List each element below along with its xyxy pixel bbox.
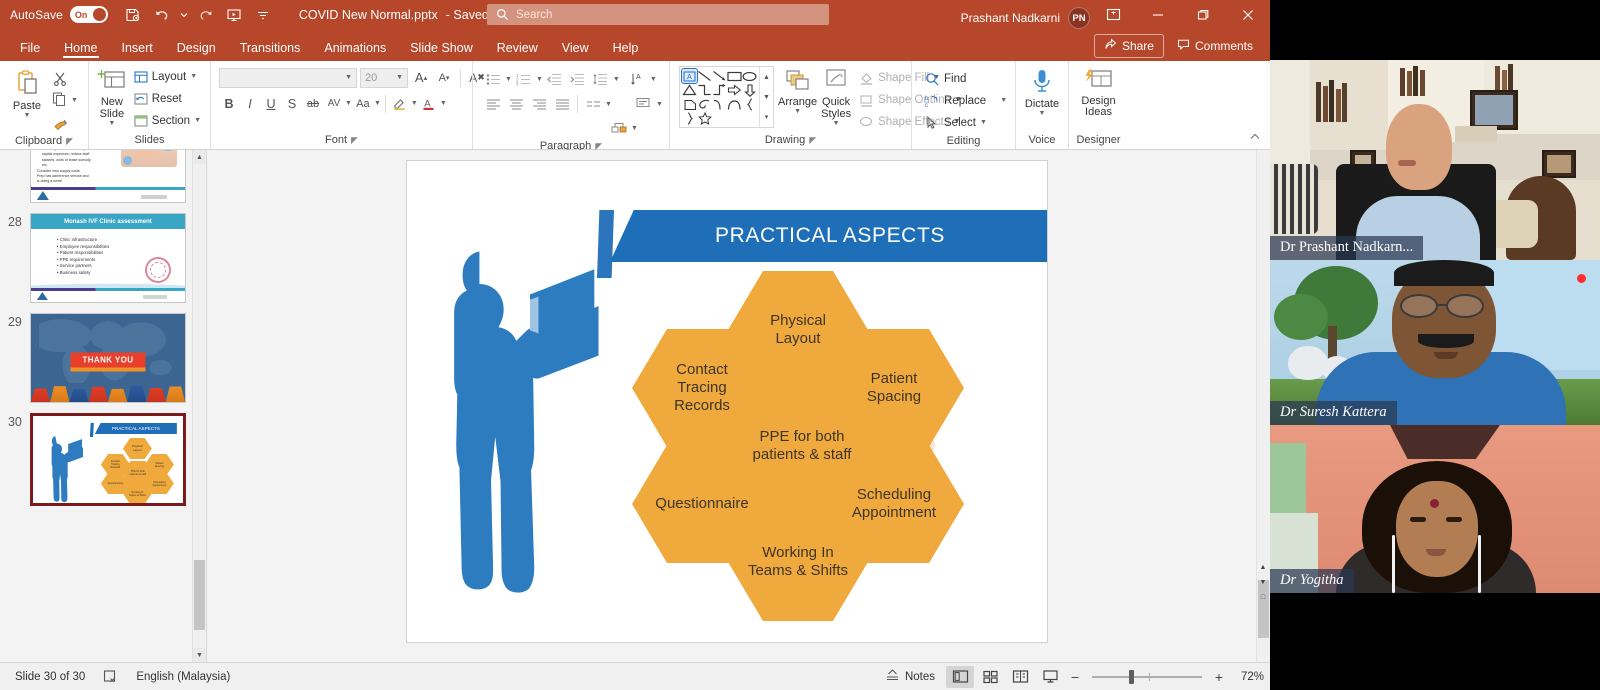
dictate-chevron-down-icon[interactable]: ▼ (1039, 110, 1046, 117)
autosave-toggle[interactable]: On (70, 6, 108, 23)
bullets-chevron-down-icon[interactable]: ▼ (505, 76, 512, 83)
slide-counter[interactable]: Slide 30 of 30 (6, 666, 94, 688)
undo-dropdown-icon[interactable] (178, 3, 190, 27)
numbering-icon[interactable]: 123 (513, 69, 535, 90)
slide-nav-buttons: ▲ ▼ □ (1257, 561, 1269, 604)
new-slide-button[interactable]: New Slide ▼ (94, 66, 130, 127)
thumb-title: Monash IVF Clinic assessment (64, 219, 152, 225)
change-case-button[interactable]: Aa (353, 94, 373, 114)
zoom-slider-handle[interactable] (1129, 670, 1134, 684)
select-button[interactable]: Select ▼ (921, 112, 1011, 133)
slide-scrollbar[interactable]: ▲ ▼ □ (1256, 150, 1270, 662)
tab-slide-show[interactable]: Slide Show (398, 34, 485, 61)
slide-canvas[interactable]: PRACTICAL ASPECTS (406, 160, 1048, 643)
shape-rectangle-icon[interactable] (727, 69, 742, 83)
application-window: AutoSave On (0, 0, 1600, 690)
svg-text:A: A (687, 74, 692, 81)
title-bar: AutoSave On (0, 0, 1270, 29)
text-direction-chevron-down-icon[interactable]: ▼ (650, 76, 657, 83)
change-case-chevron-down-icon[interactable]: ▼ (374, 100, 381, 107)
svg-text:A: A (636, 74, 641, 81)
shape-left-brace-icon[interactable] (742, 98, 757, 112)
tab-review[interactable]: Review (485, 34, 550, 61)
zoom-out-label: − (1071, 669, 1079, 685)
font-name-chevron-down-icon: ▼ (345, 74, 352, 81)
shape-right-arrow-icon[interactable] (727, 83, 742, 97)
paste-chevron-down-icon[interactable]: ▼ (24, 112, 31, 119)
autosave-state: On (75, 10, 88, 20)
hexagon-diagram: PhysicalLayout ContactTracingRecords Pat… (612, 271, 1032, 631)
new-slide-label: New Slide (94, 96, 130, 120)
autosave-toggle-knob (93, 8, 106, 21)
replace-button[interactable]: bc Replace ▼ (921, 90, 1011, 111)
zoom-in-button[interactable]: + (1210, 667, 1228, 687)
grow-font-button[interactable]: A▴ (411, 68, 431, 88)
notes-icon (885, 668, 900, 685)
shape-arrow-icon[interactable] (712, 69, 727, 83)
ribbon-group-designer: Design Ideas Designer (1068, 61, 1128, 149)
svg-text:3: 3 (516, 81, 519, 85)
list-item[interactable]: 28 Monash IVF Clinic assessment • Clinic… (0, 208, 192, 308)
ribbon-right-actions: Share Comments (1094, 34, 1262, 58)
character-spacing-label: AV (328, 98, 341, 109)
thumbnail-number: 30 (0, 413, 30, 429)
search-input[interactable] (487, 4, 829, 25)
thumbnail-scrollbar[interactable]: ▲ ▼ (192, 150, 206, 662)
search-container (487, 4, 829, 25)
scrollbar-thumb[interactable] (194, 560, 205, 630)
ribbon-group-drawing: A (669, 61, 911, 149)
underline-button[interactable]: U (261, 94, 281, 114)
zoom-midpoint (1149, 673, 1150, 681)
paste-label: Paste (13, 100, 41, 112)
tab-animations[interactable]: Animations (312, 34, 398, 61)
columns-chevron-down-icon[interactable]: ▼ (605, 101, 612, 108)
autosave-label: AutoSave (10, 8, 63, 22)
hex-label: Working InTeams & Shifts (748, 544, 848, 579)
hex-label: PPE for bothpatients & staff (753, 428, 852, 463)
thumbnail-slide-29[interactable]: THANK YOU (30, 313, 186, 403)
shape-oval-icon[interactable] (742, 69, 757, 83)
tab-file-label: File (20, 41, 40, 55)
justify-icon[interactable] (551, 94, 573, 115)
copy-icon (51, 91, 67, 110)
quick-styles-chevron-down-icon[interactable]: ▼ (833, 120, 840, 127)
thumbnail-number: 29 (0, 313, 30, 329)
baby-photo (121, 150, 177, 167)
shape-right-brace-icon[interactable] (682, 112, 697, 125)
arrange-label: Arrange (778, 96, 817, 108)
zoom-out-button[interactable]: − (1066, 667, 1084, 687)
tab-help[interactable]: Help (601, 34, 651, 61)
ribbon-group-slides: New Slide ▼ Layout ▼ Reset (88, 61, 210, 149)
arrange-button[interactable]: Arrange ▼ (778, 66, 817, 115)
convert-to-smartart-icon[interactable] (608, 118, 630, 139)
find-label: Find (944, 73, 966, 85)
section-label: Section (152, 115, 190, 127)
svg-text:c: c (925, 103, 928, 108)
zoom-track (1092, 676, 1202, 678)
dictate-label: Dictate (1025, 98, 1059, 110)
ribbon-group-voice: Dictate ▼ Voice (1015, 61, 1068, 149)
font-name-combo[interactable]: ▼ (219, 68, 357, 88)
design-ideas-label: Design Ideas (1074, 96, 1123, 118)
save-icon[interactable] (120, 3, 147, 27)
person-with-megaphone-icon[interactable] (420, 245, 600, 635)
shape-curve-icon[interactable] (712, 98, 727, 112)
tab-insert-label: Insert (122, 41, 153, 55)
status-bar: Slide 30 of 30 English (Malaysia) Notes (0, 662, 1270, 690)
layout-chevron-down-icon: ▼ (190, 73, 197, 80)
tab-view[interactable]: View (550, 34, 601, 61)
language-label: English (Malaysia) (136, 671, 230, 683)
slide-footer (31, 187, 185, 202)
ribbon-tabs: File Home Insert Design Transitions Anim… (0, 29, 1270, 61)
slide-counter-label: Slide 30 of 30 (15, 671, 85, 683)
shape-down-arrow-icon[interactable] (742, 83, 757, 97)
gallery-down-icon[interactable]: ▼ (760, 87, 773, 107)
hex-label: PatientSpacing (867, 370, 921, 405)
thumbnail-slide-28[interactable]: Monash IVF Clinic assessment • Clinic in… (30, 213, 186, 303)
shape-arc-icon[interactable] (727, 98, 742, 112)
hex-label: SchedulingAppointment (852, 486, 936, 521)
thumb-bullet: • Clinic infrastructure (57, 237, 185, 244)
tab-insert[interactable]: Insert (110, 34, 165, 61)
layout-button[interactable]: Layout ▼ (130, 66, 205, 87)
comments-label: Comments (1195, 39, 1253, 53)
shape-elbow-connector-icon[interactable] (697, 83, 712, 97)
avatar: PN (1068, 7, 1090, 29)
undo-icon[interactable] (149, 3, 176, 27)
zoom-level: 72% (1230, 671, 1264, 683)
ribbon: Paste ▼ ▼ (0, 61, 1270, 150)
svg-text:b: b (925, 96, 929, 102)
tab-file[interactable]: File (8, 34, 52, 61)
line-spacing-icon[interactable] (590, 69, 612, 90)
user-name: Prashant Nadkarni (961, 11, 1060, 25)
cut-icon[interactable] (49, 68, 71, 89)
numbering-chevron-down-icon[interactable]: ▼ (536, 76, 543, 83)
shape-scribble-icon[interactable] (697, 98, 712, 112)
start-presentation-icon[interactable] (221, 3, 248, 27)
restore-button[interactable] (1180, 0, 1225, 29)
share-icon (1104, 38, 1117, 54)
slide-title-banner[interactable]: PRACTICAL ASPECTS (610, 210, 1047, 262)
normal-view-button[interactable] (946, 666, 974, 688)
select-label: Select (944, 117, 976, 129)
status-bar-right: Notes − (876, 666, 1264, 688)
italic-button[interactable]: I (240, 94, 260, 114)
ribbon-group-editing-label: Editing (947, 133, 981, 150)
shape-textbox-icon[interactable]: A (682, 69, 697, 83)
text-shadow-button[interactable]: S (282, 94, 302, 114)
ribbon-display-options-icon[interactable] (1092, 0, 1135, 29)
list-item[interactable]: 30 PRACTICAL ASPECTS (0, 408, 192, 511)
video-conference-panel: Dr Prashant Nadkarn... (1270, 0, 1600, 690)
video-tile-1[interactable]: Dr Suresh Kattera (1270, 260, 1600, 425)
people-illustration (31, 383, 185, 402)
share-label: Share (1122, 39, 1154, 53)
video-feed (1270, 425, 1600, 593)
shadow-label: S (288, 97, 296, 111)
tab-design-label: Design (177, 41, 216, 55)
copy-button[interactable]: ▼ (49, 90, 80, 111)
strikethrough-label: ab (307, 98, 319, 110)
participant-name: Dr Yogitha (1270, 569, 1354, 593)
font-color-chevron-down-icon[interactable]: ▼ (440, 100, 447, 107)
bold-button[interactable]: B (219, 94, 239, 114)
character-spacing-button[interactable]: AV (324, 94, 344, 114)
minimize-button[interactable] (1135, 0, 1180, 29)
video-tile-2[interactable]: Dr Yogitha (1270, 425, 1600, 593)
section-button[interactable]: Section ▼ (130, 110, 205, 131)
slide-show-view-button[interactable] (1036, 666, 1064, 688)
thumbnail-number: 28 (0, 213, 30, 229)
notes-label: Notes (905, 671, 935, 683)
quick-styles-button[interactable]: Quick Styles ▼ (821, 66, 851, 127)
close-button[interactable] (1225, 0, 1270, 29)
tab-review-label: Review (497, 41, 538, 55)
thumbnail-slide-30[interactable]: PRACTICAL ASPECTS PhysicalLayout Contact… (30, 413, 186, 506)
find-button[interactable]: Find (921, 68, 1011, 89)
customize-qat-icon[interactable] (250, 3, 277, 27)
shape-elbow-arrow-icon[interactable] (712, 83, 727, 97)
quick-styles-label: Quick Styles (821, 96, 851, 120)
replace-label: Replace (944, 95, 986, 107)
format-painter-icon[interactable] (49, 112, 71, 133)
list-item[interactable]: Chose scheduling teams number of patient… (0, 150, 192, 208)
previous-slide-icon[interactable]: ▲ (1257, 561, 1269, 574)
align-right-icon[interactable] (528, 94, 550, 115)
page-title: PRACTICAL ASPECTS (715, 224, 945, 248)
ribbon-group-font-label: Font (325, 132, 347, 149)
powerpoint-window: AutoSave On (0, 0, 1270, 690)
shape-triangle-icon[interactable] (682, 83, 697, 97)
reset-label: Reset (152, 93, 182, 105)
thumbnail-slide-27[interactable]: Chose scheduling teams number of patient… (30, 150, 186, 203)
ribbon-group-font: ▼ 20 ▼ A▴ A▾ A✖ B I U (210, 61, 472, 149)
text-highlight-icon[interactable] (390, 94, 410, 114)
font-color-icon[interactable]: A (419, 94, 439, 114)
next-slide-icon[interactable]: ▼ (1257, 576, 1269, 589)
strikethrough-button[interactable]: ab (303, 94, 323, 114)
slide-sorter-view-button[interactable] (976, 666, 1004, 688)
increase-indent-icon[interactable] (567, 69, 589, 90)
highlight-chevron-down-icon[interactable]: ▼ (411, 100, 418, 107)
dictate-button[interactable]: Dictate ▼ (1021, 66, 1063, 117)
shapes-gallery[interactable]: A (679, 66, 774, 128)
redo-icon[interactable] (192, 3, 219, 27)
fit-slide-icon[interactable]: □ (1257, 591, 1269, 604)
shrink-font-button[interactable]: A▾ (434, 68, 454, 88)
thumb-bullet: is doing a need! (37, 179, 125, 184)
reading-view-button[interactable] (1006, 666, 1034, 688)
line-spacing-chevron-down-icon[interactable]: ▼ (613, 76, 620, 83)
thumbnail-list: Chose scheduling teams number of patient… (0, 150, 192, 662)
shape-line-icon[interactable] (697, 69, 712, 83)
slide-thumbnail-pane: Chose scheduling teams number of patient… (0, 150, 207, 662)
editor-area: Chose scheduling teams number of patient… (0, 150, 1270, 662)
underline-label: U (266, 97, 275, 111)
participant-name: Dr Suresh Kattera (1270, 401, 1397, 425)
tab-help-label: Help (613, 41, 639, 55)
align-center-icon[interactable] (505, 94, 527, 115)
zoom-in-label: + (1215, 669, 1223, 685)
ribbon-group-clipboard: Paste ▼ ▼ (0, 61, 88, 149)
shape-pentagon-icon[interactable] (682, 98, 697, 112)
decrease-indent-icon[interactable] (544, 69, 566, 90)
character-spacing-chevron-down-icon[interactable]: ▼ (345, 100, 352, 107)
collapse-ribbon-icon[interactable] (1244, 125, 1266, 146)
reset-button[interactable]: Reset (130, 88, 205, 109)
accessibility-check-icon[interactable] (94, 666, 127, 688)
thumb-bullet: • Employee responsibilities (57, 244, 185, 251)
section-chevron-down-icon: ▼ (194, 117, 201, 124)
shape-star-icon[interactable] (697, 112, 712, 125)
notes-button[interactable]: Notes (876, 666, 944, 688)
text-direction-icon[interactable]: A (627, 69, 649, 90)
copy-chevron-down-icon[interactable]: ▼ (71, 97, 78, 104)
bold-label: B (224, 97, 233, 111)
video-tile-0[interactable]: Dr Prashant Nadkarn... (1270, 60, 1600, 260)
tab-slide-show-label: Slide Show (410, 41, 473, 55)
ribbon-group-designer-label: Designer (1076, 132, 1120, 149)
video-feed (1270, 60, 1600, 260)
participant-name: Dr Prashant Nadkarn... (1270, 236, 1423, 260)
scroll-down-icon[interactable]: ▼ (193, 648, 206, 662)
file-name: COVID New Normal.pptx (299, 8, 438, 22)
saved-status: - Saved (446, 8, 489, 22)
font-size-value: 20 (365, 72, 377, 84)
align-text-icon[interactable] (633, 94, 655, 115)
align-left-icon[interactable] (482, 94, 504, 115)
font-size-chevron-down-icon: ▼ (396, 74, 403, 81)
hex-label: Questionnaire (655, 495, 748, 513)
ribbon-group-slides-label: Slides (135, 132, 165, 149)
ribbon-group-voice-label: Voice (1029, 132, 1056, 149)
layout-label: Layout (152, 71, 187, 83)
zoom-slider[interactable] (1092, 666, 1202, 688)
paste-button[interactable]: Paste ▼ (5, 66, 49, 119)
slide-footer (31, 288, 185, 302)
italic-label: I (248, 97, 251, 111)
smartart-chevron-down-icon[interactable]: ▼ (631, 125, 638, 132)
shapes-gallery-scroll: ▲ ▼ ▾ (759, 67, 773, 127)
thumb-thankyou-label: THANK YOU (70, 352, 145, 367)
tab-transitions-label: Transitions (240, 41, 301, 55)
thumb-silhouette-icon (41, 434, 83, 506)
ribbon-group-paragraph: ▼ 123 ▼ ▼ A ▼ (472, 61, 669, 149)
hex-label: ContactTracingRecords (674, 361, 730, 414)
gallery-up-icon[interactable]: ▲ (760, 67, 773, 87)
comments-button[interactable]: Comments (1168, 35, 1262, 57)
window-controls (1092, 0, 1270, 29)
comment-icon (1177, 38, 1190, 54)
scroll-up-icon[interactable]: ▲ (193, 150, 206, 164)
arrange-chevron-down-icon[interactable]: ▼ (794, 108, 801, 115)
recording-indicator (1577, 274, 1586, 283)
font-size-combo[interactable]: 20 ▼ (360, 68, 408, 88)
replace-chevron-down-icon: ▼ (1000, 97, 1007, 104)
drawing-dialog-launcher-icon[interactable]: ◤ (809, 132, 816, 149)
select-chevron-down-icon: ▼ (980, 119, 987, 126)
gallery-more-icon[interactable]: ▾ (760, 107, 773, 127)
share-button[interactable]: Share (1094, 34, 1164, 58)
font-dialog-launcher-icon[interactable]: ◤ (351, 132, 358, 149)
design-ideas-button[interactable]: Design Ideas (1074, 66, 1123, 118)
ribbon-group-drawing-label: Drawing (765, 132, 805, 149)
clipboard-dialog-launcher-icon[interactable]: ◤ (66, 133, 73, 150)
tab-design[interactable]: Design (165, 34, 228, 61)
tab-animations-label: Animations (324, 41, 386, 55)
ribbon-group-clipboard-label: Clipboard (15, 133, 62, 150)
tab-view-label: View (562, 41, 589, 55)
slide-canvas-pane: PRACTICAL ASPECTS (207, 150, 1270, 662)
tab-transitions[interactable]: Transitions (228, 34, 313, 61)
language-indicator[interactable]: English (Malaysia) (127, 666, 239, 688)
change-case-label: Aa (356, 98, 369, 110)
new-slide-chevron-down-icon[interactable]: ▼ (108, 120, 115, 127)
columns-icon[interactable] (582, 94, 604, 115)
thumb-title: PRACTICAL ASPECTS (112, 426, 160, 431)
list-item[interactable]: 29 THANK YOU (0, 308, 192, 408)
tab-home[interactable]: Home (52, 34, 109, 61)
hex-label: PhysicalLayout (770, 312, 826, 347)
bullets-icon[interactable] (482, 69, 504, 90)
tab-home-label: Home (64, 41, 97, 55)
user-account[interactable]: Prashant Nadkarni PN (961, 7, 1090, 29)
thumb-bullet: • Patient responsibilities (57, 250, 185, 257)
quick-access-toolbar (120, 3, 277, 27)
ribbon-group-editing: Find bc Replace ▼ Select ▼ Editing (911, 61, 1015, 149)
align-text-chevron-down-icon[interactable]: ▼ (656, 101, 663, 108)
